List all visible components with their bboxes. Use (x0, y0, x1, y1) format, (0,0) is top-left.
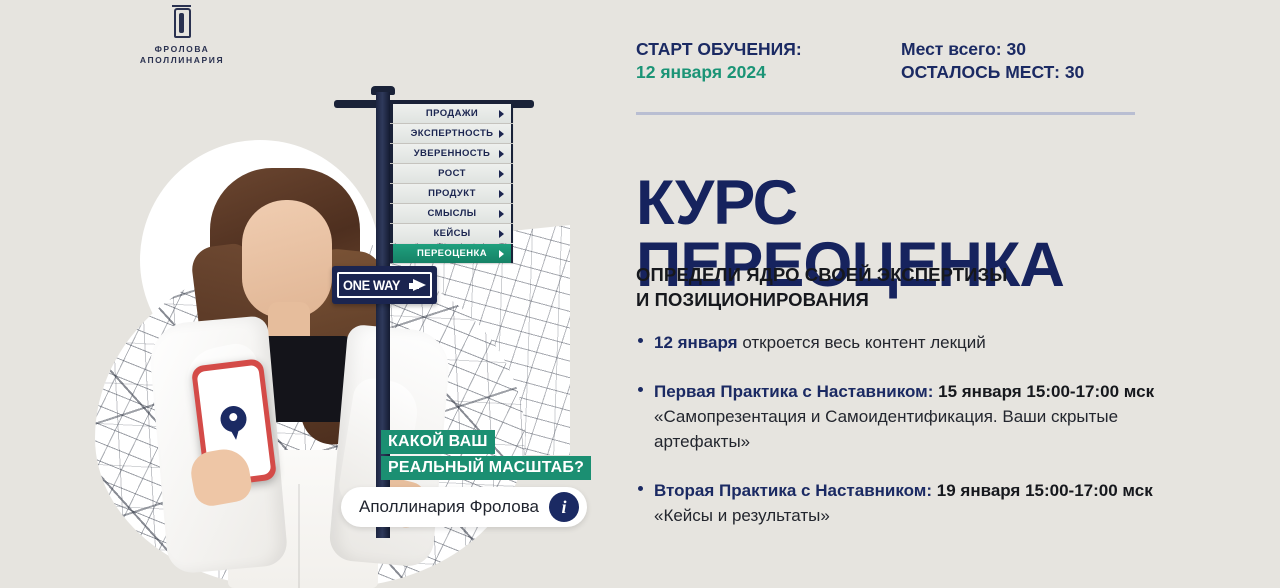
list-item: 12 января откроется весь контент лекций (636, 330, 1196, 355)
seats-total: Мест всего: 30 (901, 38, 1084, 61)
signpost-item-label: ЭКСПЕРТНОСТЬ (411, 128, 494, 139)
arrow-right-icon (409, 280, 426, 291)
poster-canvas: ФРОЛОВА АПОЛЛИНАРИЯ (0, 0, 1280, 588)
question-banner: КАКОЙ ВАШ РЕАЛЬНЫЙ МАСШТАБ? (381, 430, 591, 482)
info-icon: i (549, 492, 579, 522)
arrow-right-icon (499, 110, 504, 118)
signpost-item-uverennost: УВЕРЕННОСТЬ (390, 144, 513, 163)
signpost-item-label: СМЫСЛЫ (428, 208, 477, 219)
model-face (242, 200, 332, 318)
signpost-crossbar-left (334, 100, 382, 108)
bullet-3-title: Вторая Практика с Наставником: (654, 481, 932, 500)
signpost-labels: ПРОДАЖИ ЭКСПЕРТНОСТЬ УВЕРЕННОСТЬ РОСТ ПР… (390, 104, 513, 264)
seats-left: ОСТАЛОСЬ МЕСТ: 30 (901, 61, 1084, 84)
signpost-item-rost: РОСТ (390, 164, 513, 183)
list-item: Первая Практика с Наставником: 15 января… (636, 379, 1196, 454)
horizontal-divider (636, 112, 1135, 115)
content-column: СТАРТ ОБУЧЕНИЯ: 12 января 2024 Мест всег… (636, 0, 1236, 588)
hero-photo-panel: ПРОДАЖИ ЭКСПЕРТНОСТЬ УВЕРЕННОСТЬ РОСТ ПР… (0, 0, 615, 588)
question-banner-line2: РЕАЛЬНЫЙ МАСШТАБ? (381, 456, 591, 480)
start-label: СТАРТ ОБУЧЕНИЯ: (636, 38, 901, 61)
arrow-right-icon (499, 210, 504, 218)
bullet-3-datetime: 19 января 15:00-17:00 мск (932, 481, 1153, 500)
bullet-2-desc-line1: «Самопрезентация и Самоидентификация. Ва… (654, 404, 1196, 429)
signpost-item-label: ПРОДАЖИ (426, 108, 478, 119)
question-banner-line1: КАКОЙ ВАШ (381, 430, 495, 454)
signpost-item-smysly: СМЫСЛЫ (390, 204, 513, 223)
signpost-item-label: КЕЙСЫ (433, 228, 470, 239)
bullet-2-title: Первая Практика с Наставником: (654, 382, 933, 401)
bullet-1-date: 12 января (654, 333, 738, 352)
signpost-item-pereotsenka: ПЕРЕОЦЕНКА (390, 244, 513, 263)
map-pin-icon (219, 405, 249, 442)
arrow-right-icon (499, 190, 504, 198)
arrow-right-icon (499, 230, 504, 238)
schedule-list: 12 января откроется весь контент лекций … (636, 330, 1196, 552)
signpost-item-keysy: КЕЙСЫ (390, 224, 513, 243)
page-subtitle: ОПРЕДЕЛИ ЯДРО СВОЕЙ ЭКСПЕРТИЗЫ И ПОЗИЦИО… (636, 262, 1007, 312)
signpost-item-produkt: ПРОДУКТ (390, 184, 513, 203)
seats-block: Мест всего: 30 ОСТАЛОСЬ МЕСТ: 30 (901, 38, 1084, 84)
arrow-right-icon (499, 170, 504, 178)
arrow-right-icon (499, 150, 504, 158)
page-subtitle-line1: ОПРЕДЕЛИ ЯДРО СВОЕЙ ЭКСПЕРТИЗЫ (636, 262, 1007, 287)
signpost-item-label: УВЕРЕННОСТЬ (414, 148, 491, 159)
arrow-right-icon (499, 250, 504, 258)
bullet-1-text: откроется весь контент лекций (738, 333, 986, 352)
start-block: СТАРТ ОБУЧЕНИЯ: 12 января 2024 (636, 38, 901, 84)
one-way-sign-label: ONE WAY (343, 277, 400, 293)
signpost-item-label: ПРОДУКТ (428, 188, 476, 199)
arrow-right-icon (499, 130, 504, 138)
signpost-item-label: ПЕРЕОЦЕНКА (417, 248, 487, 259)
bullet-3-desc-line1: «Кейсы и результаты» (654, 503, 1196, 528)
signpost-item-ekspertnost: ЭКСПЕРТНОСТЬ (390, 124, 513, 143)
signpost-item-prodazhi: ПРОДАЖИ (390, 104, 513, 123)
signpost-item-label: РОСТ (438, 168, 466, 179)
presenter-name-chip: Аполлинария Фролова i (341, 487, 587, 527)
bullet-2-datetime: 15 января 15:00-17:00 мск (933, 382, 1154, 401)
one-way-sign: ONE WAY (332, 266, 437, 304)
start-date: 12 января 2024 (636, 61, 901, 84)
course-meta: СТАРТ ОБУЧЕНИЯ: 12 января 2024 Мест всег… (636, 38, 1196, 84)
bullet-2-desc-line2: артефакты» (654, 429, 1196, 454)
presenter-name: Аполлинария Фролова (359, 497, 539, 517)
list-item: Вторая Практика с Наставником: 19 января… (636, 478, 1196, 528)
page-subtitle-line2: И ПОЗИЦИОНИРОВАНИЯ (636, 287, 1007, 312)
page-title-line1: КУРС (636, 168, 797, 238)
